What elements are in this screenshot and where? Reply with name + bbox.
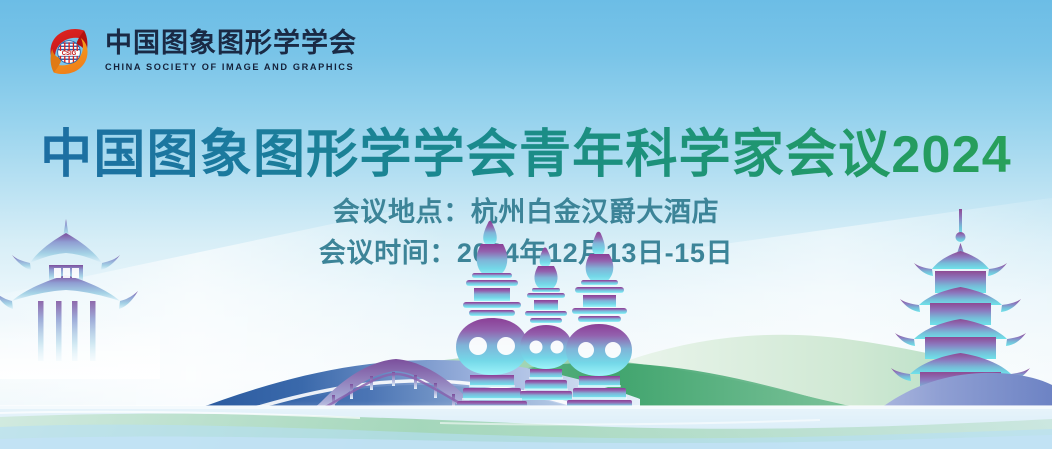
pavilion-windows xyxy=(54,268,79,278)
csig-logo-mark: CSIG xyxy=(42,24,96,78)
scenery-svg xyxy=(0,189,1052,449)
hangzhou-scenery xyxy=(0,189,1052,449)
csig-logo-text: 中国图象图形学学会 CHINA SOCIETY OF IMAGE AND GRA… xyxy=(105,30,357,72)
page-title: 中国图象图形学学会青年科学家会议2024 xyxy=(0,112,1052,187)
conference-banner: CSIG 中国图象图形学学会 CHINA SOCIETY OF IMAGE AN… xyxy=(0,0,1052,449)
org-name-cn: 中国图象图形学学会 xyxy=(105,30,357,58)
org-name-en: CHINA SOCIETY OF IMAGE AND GRAPHICS xyxy=(105,62,357,72)
logo-acronym: CSIG xyxy=(62,51,77,57)
csig-logo: CSIG 中国图象图形学学会 CHINA SOCIETY OF IMAGE AN… xyxy=(42,24,357,78)
stupa-group xyxy=(456,221,632,411)
pavilion-mist xyxy=(0,319,160,379)
shoreline xyxy=(0,405,1052,409)
